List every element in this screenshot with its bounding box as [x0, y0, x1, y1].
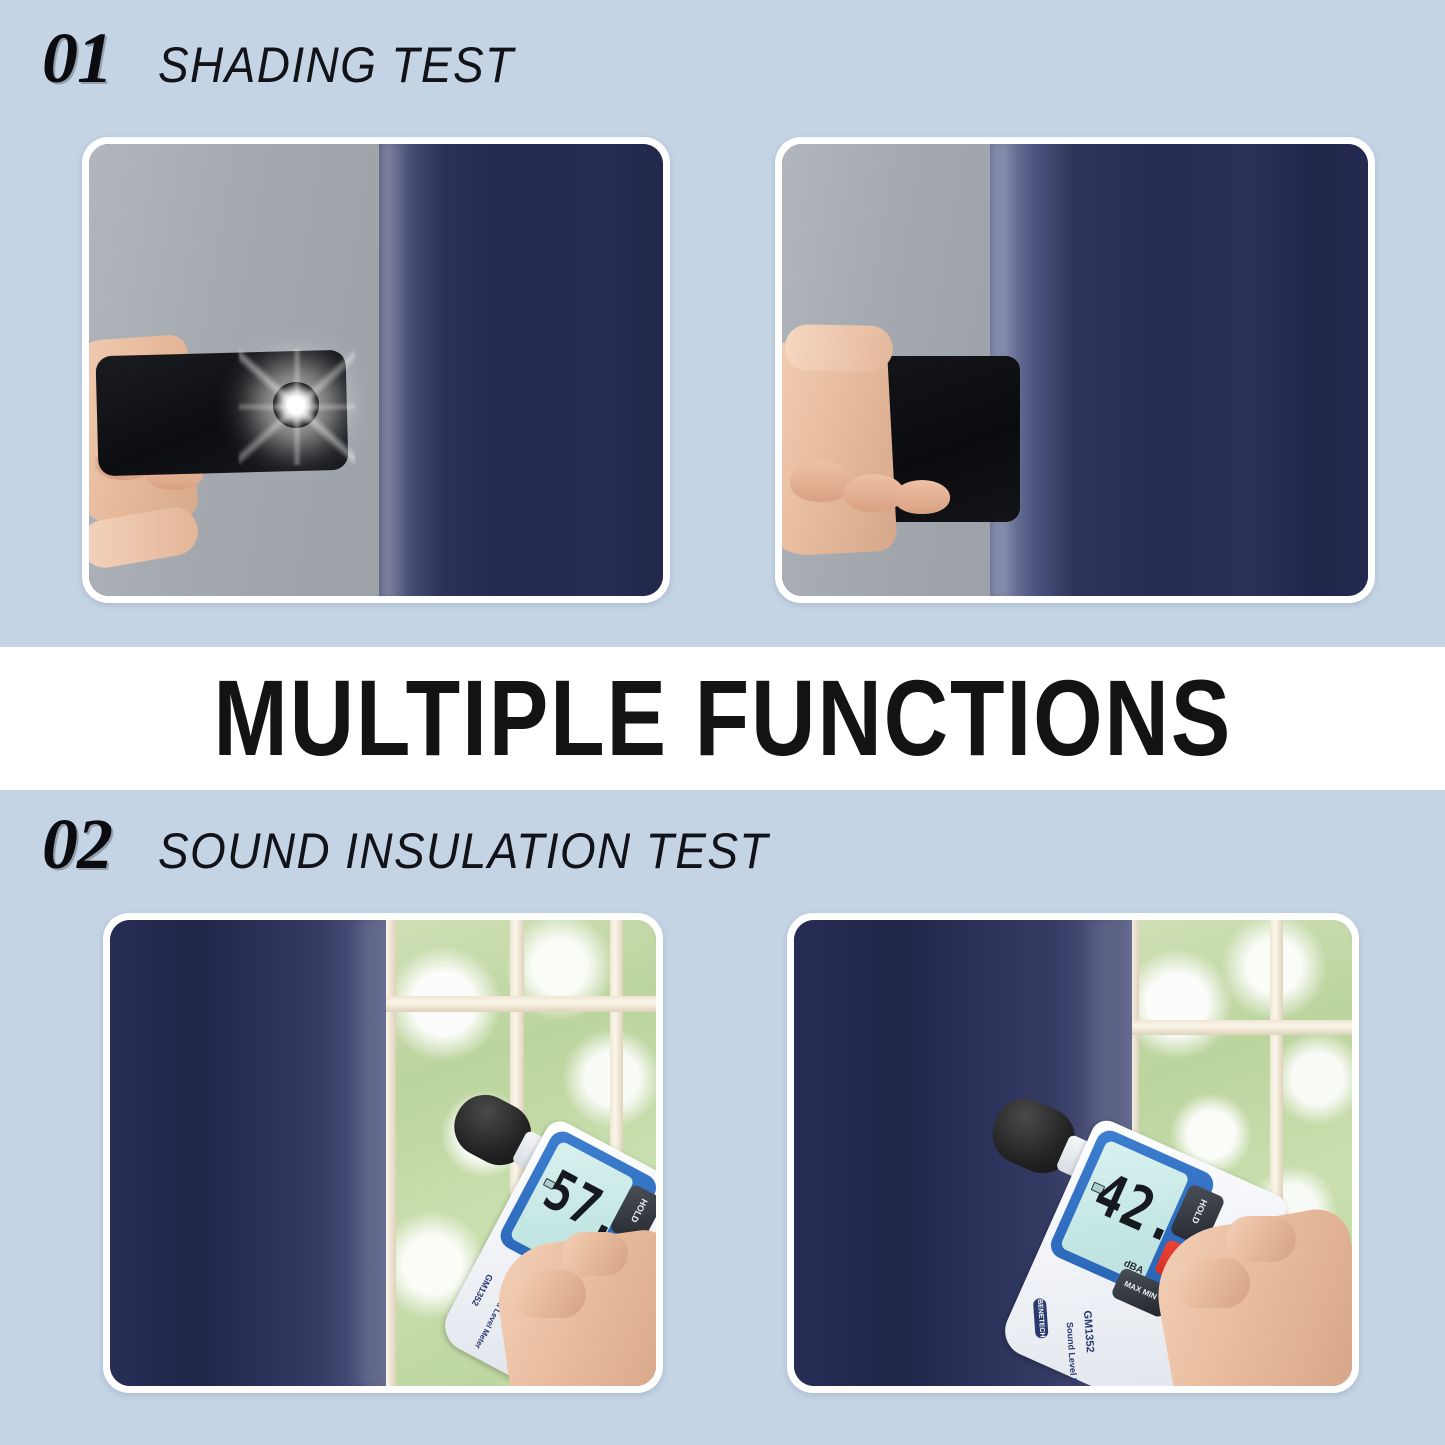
finger [562, 1232, 628, 1276]
section-number-02: 02 [42, 808, 112, 880]
photo-shading-flashlight-blocked [782, 144, 1368, 596]
thumb [784, 324, 893, 372]
hand [782, 337, 898, 558]
photo-card-sound-open-window: 57.9 dBA HOLD MAX MIN GM1352 Sound Level… [103, 913, 663, 1393]
photo-card-shading-flashlight-on [82, 137, 670, 603]
finger [1174, 1258, 1250, 1308]
window-mullion [1124, 1020, 1352, 1035]
photo-card-shading-flashlight-blocked [775, 137, 1375, 603]
finger [790, 462, 852, 502]
section-number-01: 01 [42, 22, 112, 94]
meter-model-label: GM1352 [1079, 1310, 1096, 1353]
infographic-page: 01 SHADING TEST [0, 0, 1445, 1445]
finger [1226, 1216, 1296, 1262]
curtain-edge-highlight [381, 144, 407, 596]
finger [894, 480, 950, 514]
window-mullion [380, 996, 656, 1012]
photo-sound-behind-curtain: 42.2 dBA HOLD MAX MIN BENETECH GM1352 So… [794, 920, 1352, 1386]
flashlight-beam [273, 382, 319, 428]
section-header-01: 01 SHADING TEST [42, 22, 545, 94]
section-header-02: 02 SOUND INSULATION TEST [42, 808, 822, 880]
section-title-02: SOUND INSULATION TEST [158, 826, 769, 876]
navy-curtain [379, 144, 663, 596]
photo-shading-flashlight-on [89, 144, 663, 596]
navy-curtain [990, 144, 1368, 596]
headline-banner: MULTIPLE FUNCTIONS [0, 647, 1445, 790]
finger [514, 1270, 586, 1318]
section-title-01: SHADING TEST [158, 40, 514, 90]
photo-card-sound-behind-curtain: 42.2 dBA HOLD MAX MIN BENETECH GM1352 So… [787, 913, 1359, 1393]
headline-text: MULTIPLE FUNCTIONS [213, 665, 1232, 773]
brand-logo: BENETECH [1033, 1298, 1049, 1339]
photo-sound-open-window: 57.9 dBA HOLD MAX MIN GM1352 Sound Level… [110, 920, 656, 1386]
